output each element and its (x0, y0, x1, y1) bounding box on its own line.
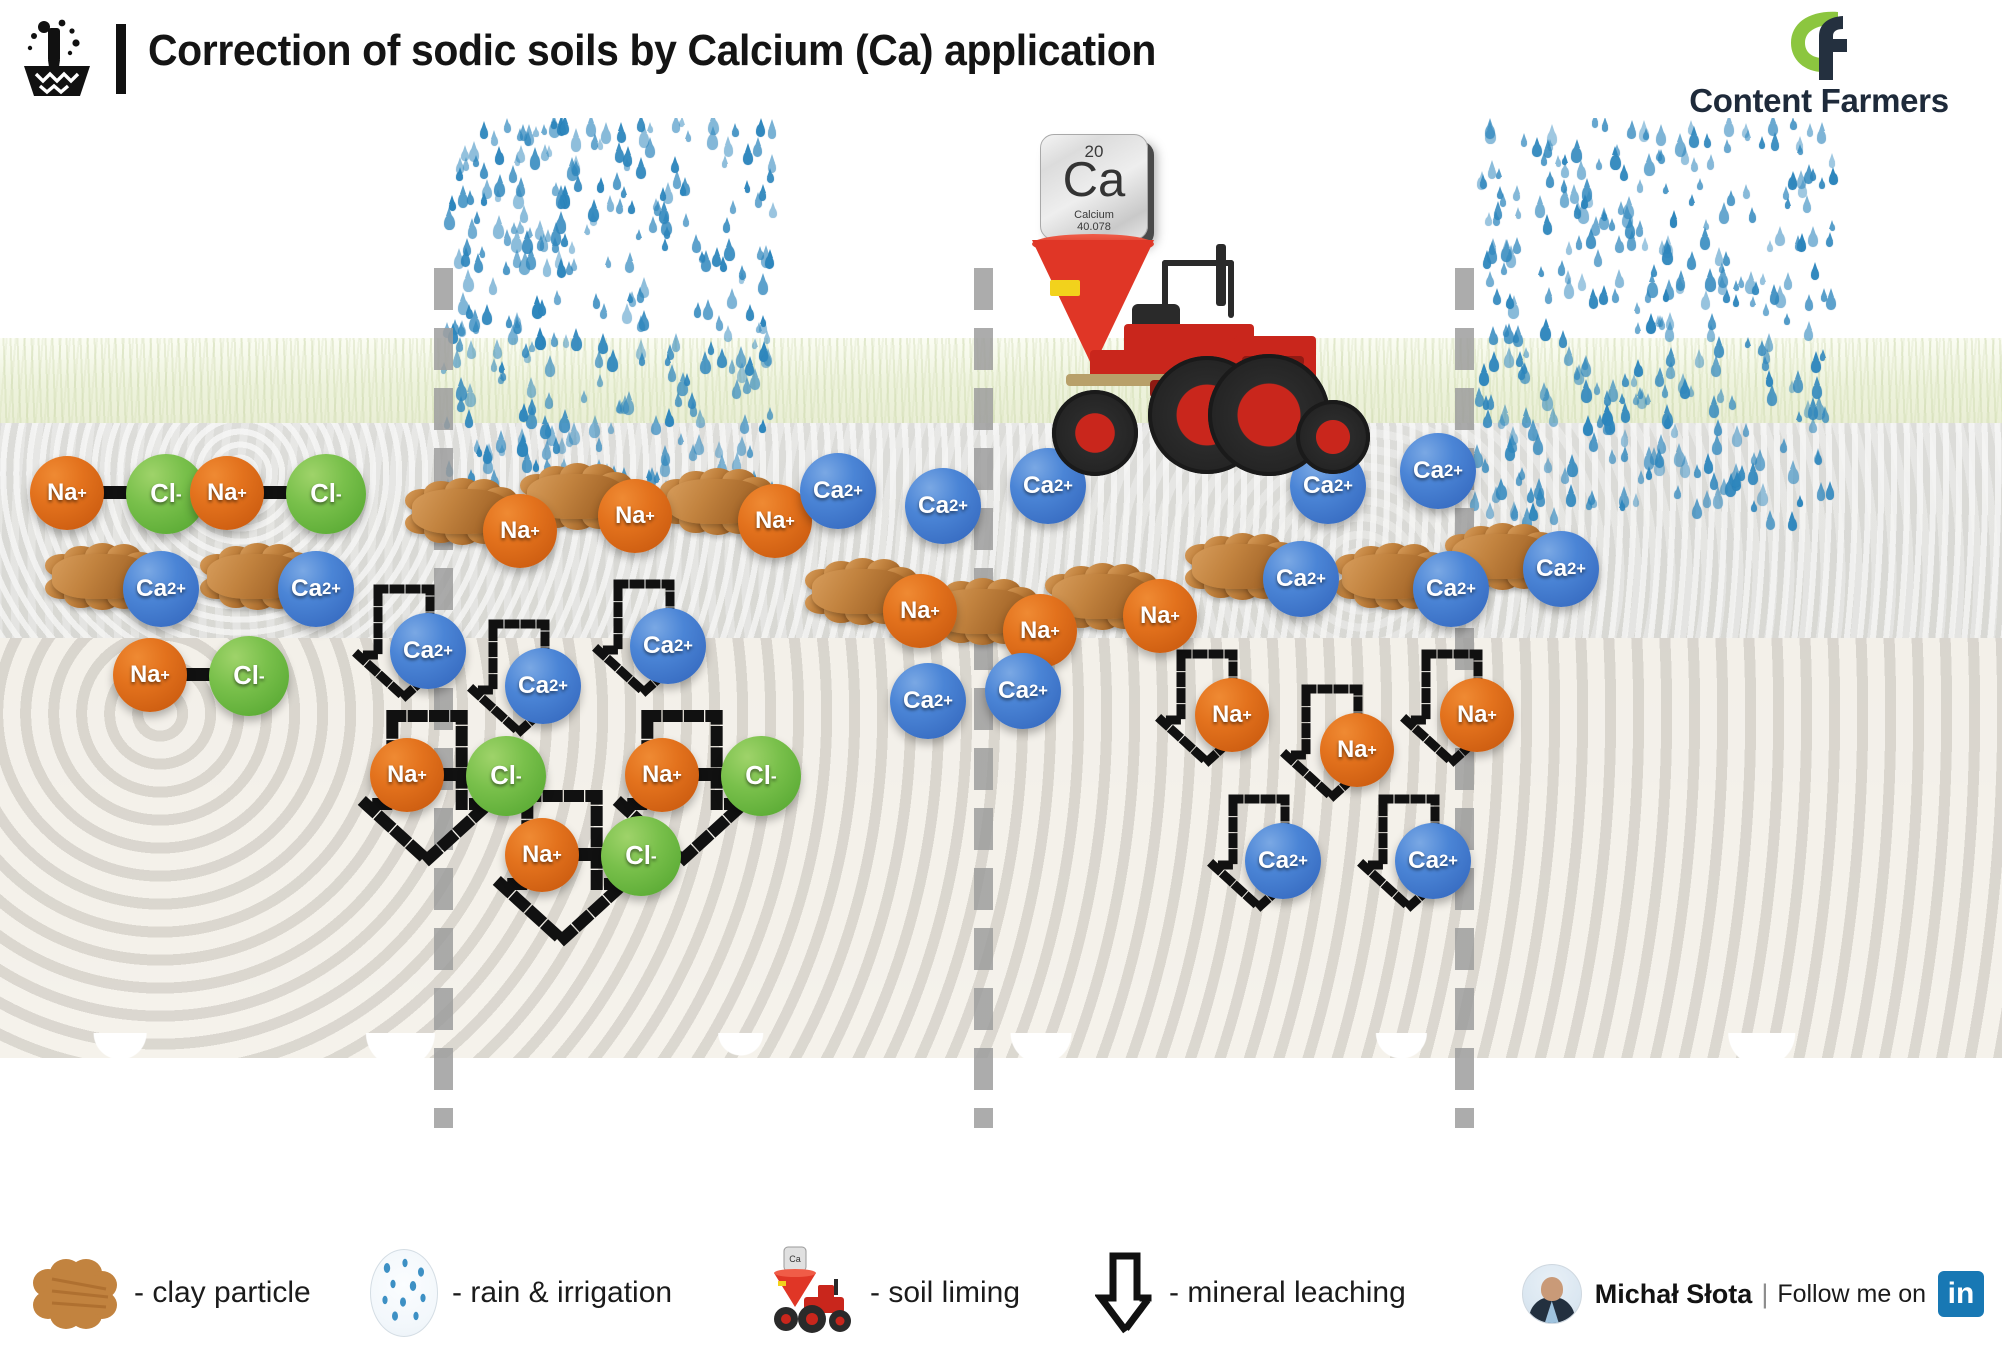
sodium-ion: Na+ (483, 494, 557, 568)
calcium-ion: Ca2+ (985, 653, 1061, 729)
calcium-element-tile: 20 Ca Calcium 40.078 (1040, 134, 1148, 240)
calcium-ion: Ca2+ (123, 551, 199, 627)
legend-label-clay-particle: - clay particle (134, 1276, 311, 1310)
sodium-ion: Na+ (598, 479, 672, 553)
sodium-ion: Na+ (625, 738, 699, 812)
exhaust-pipe (1216, 244, 1226, 306)
front-wheel-left (1052, 390, 1138, 476)
chloride-ion: Cl- (286, 454, 366, 534)
calcium-ion: Ca2+ (1523, 531, 1599, 607)
legend-item-rain-irrigation: - rain & irrigation (370, 1258, 672, 1328)
atomic-mass: 40.078 (1041, 221, 1147, 233)
calcium-ion: Ca2+ (630, 608, 706, 684)
clay-particle-icon (26, 1257, 120, 1329)
credit-separator: | (1761, 1279, 1768, 1310)
legend-label-soil-liming: - soil liming (870, 1276, 1020, 1310)
sodium-ion: Na+ (190, 456, 264, 530)
sodium-ion: Na+ (30, 456, 104, 530)
chloride-ion: Cl- (721, 736, 801, 816)
roll-bar-right (1228, 260, 1234, 318)
page-header: Correction of sodic soils by Calcium (Ca… (0, 0, 2002, 130)
calcium-ion: Ca2+ (1400, 433, 1476, 509)
page-title: Correction of sodic soils by Calcium (Ca… (148, 26, 1156, 76)
calcium-ion: Ca2+ (278, 551, 354, 627)
svg-text:Ca: Ca (789, 1254, 801, 1264)
sodium-ion: Na+ (883, 574, 957, 648)
sodium-ion: Na+ (113, 638, 187, 712)
author-avatar (1522, 1264, 1582, 1324)
soil-bottom-edge (0, 1033, 2002, 1103)
calcium-ion: Ca2+ (1263, 541, 1339, 617)
sodium-ion: Na+ (370, 738, 444, 812)
calcium-ion: Ca2+ (890, 663, 966, 739)
calcium-ion: Ca2+ (505, 648, 581, 724)
mineral-leaching-icon (1095, 1250, 1155, 1336)
author-credit: Michał Słota | Follow me on in (1522, 1252, 1984, 1336)
brand-name: Content Farmers (1654, 82, 1984, 120)
brand-logo: Content Farmers (1654, 6, 1984, 124)
calcium-ion: Ca2+ (905, 468, 981, 544)
soil-liming-icon: Ca (760, 1245, 856, 1341)
content-farmers-f-icon (1775, 8, 1863, 82)
calcium-ion: Ca2+ (800, 453, 876, 529)
hopper-label (1050, 280, 1080, 296)
legend-label-mineral-leaching: - mineral leaching (1169, 1276, 1406, 1310)
element-name: Calcium (1041, 209, 1147, 221)
soil-profile-icon (14, 14, 100, 100)
soil-liming-tractor: 20 Ca Calcium 40.078 (1020, 128, 1340, 528)
calcium-ion: Ca2+ (1395, 823, 1471, 899)
element-symbol: Ca (1041, 156, 1147, 205)
sodium-ion: Na+ (1123, 579, 1197, 653)
chloride-ion: Cl- (601, 816, 681, 896)
front-wheel-right (1296, 400, 1370, 474)
roll-bar-top (1162, 260, 1234, 266)
rain-irrigation-icon (370, 1249, 438, 1337)
title-accent-bar (116, 24, 126, 94)
chloride-ion: Cl- (466, 736, 546, 816)
author-name: Michał Słota (1595, 1279, 1753, 1310)
linkedin-icon[interactable]: in (1938, 1271, 1984, 1317)
sky-layer (0, 118, 2002, 368)
sodium-ion: Na+ (1195, 678, 1269, 752)
calcium-ion: Ca2+ (390, 613, 466, 689)
chloride-ion: Cl- (209, 636, 289, 716)
follow-text: Follow me on (1777, 1280, 1926, 1309)
legend-item-clay-particle: - clay particle (26, 1258, 311, 1328)
sodium-ion: Na+ (1440, 678, 1514, 752)
sodium-ion: Na+ (505, 818, 579, 892)
legend-item-mineral-leaching: - mineral leaching (1095, 1258, 1406, 1328)
calcium-ion: Ca2+ (1413, 551, 1489, 627)
sodium-ion: Na+ (1320, 713, 1394, 787)
soil-profile-diagram: Na+Cl-Na+Cl-Ca2+Ca2+Na+Cl-Na+Na+Na+Ca2+C… (0, 118, 2002, 1223)
legend-label-rain-irrigation: - rain & irrigation (452, 1276, 672, 1310)
calcium-ion: Ca2+ (1245, 823, 1321, 899)
legend-item-soil-liming: Ca - soil liming (760, 1258, 1020, 1328)
